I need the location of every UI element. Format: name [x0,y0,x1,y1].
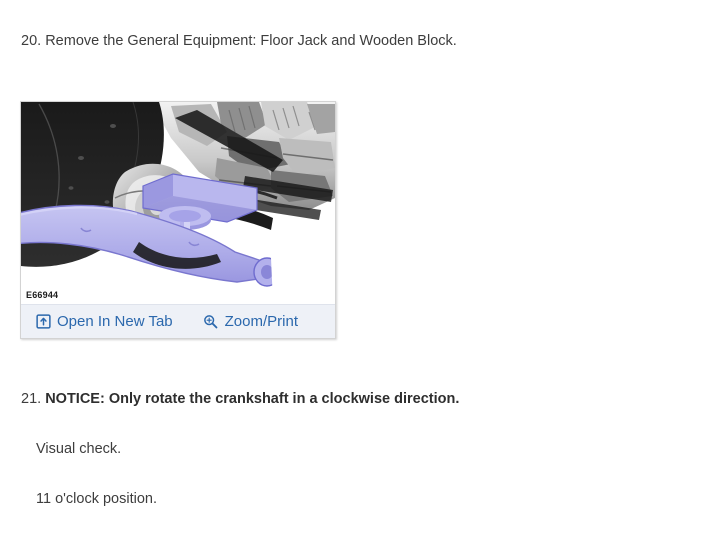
substep-visual-check: Visual check. [36,440,121,458]
figure-illustration[interactable]: E66944 [21,102,335,303]
open-in-new-tab-button[interactable]: Open In New Tab [35,313,173,330]
figure-id-label: E66944 [26,290,58,300]
step-text: Remove the General Equipment: Floor Jack… [45,33,457,49]
open-in-new-tab-icon [35,314,51,330]
step-number: 21. [21,391,41,407]
step-item-20: 20. Remove the General Equipment: Floor … [21,32,457,50]
step-item-21: 21. NOTICE: Only rotate the crankshaft i… [21,390,459,408]
zoom-print-label: Zoom/Print [225,313,298,330]
step-text-notice: NOTICE: Only rotate the crankshaft in a … [45,391,459,407]
substep-clock-position: 11 o'clock position. [36,490,157,508]
page-root: 20. Remove the General Equipment: Floor … [0,0,715,538]
magnifier-plus-icon [203,314,219,330]
zoom-print-button[interactable]: Zoom/Print [203,313,298,330]
open-in-new-tab-label: Open In New Tab [57,313,173,330]
figure-toolbar: Open In New Tab Zoom/Print [21,304,335,338]
figure-block: E66944 Open In New Tab [20,101,336,339]
step-number: 20. [21,33,41,49]
